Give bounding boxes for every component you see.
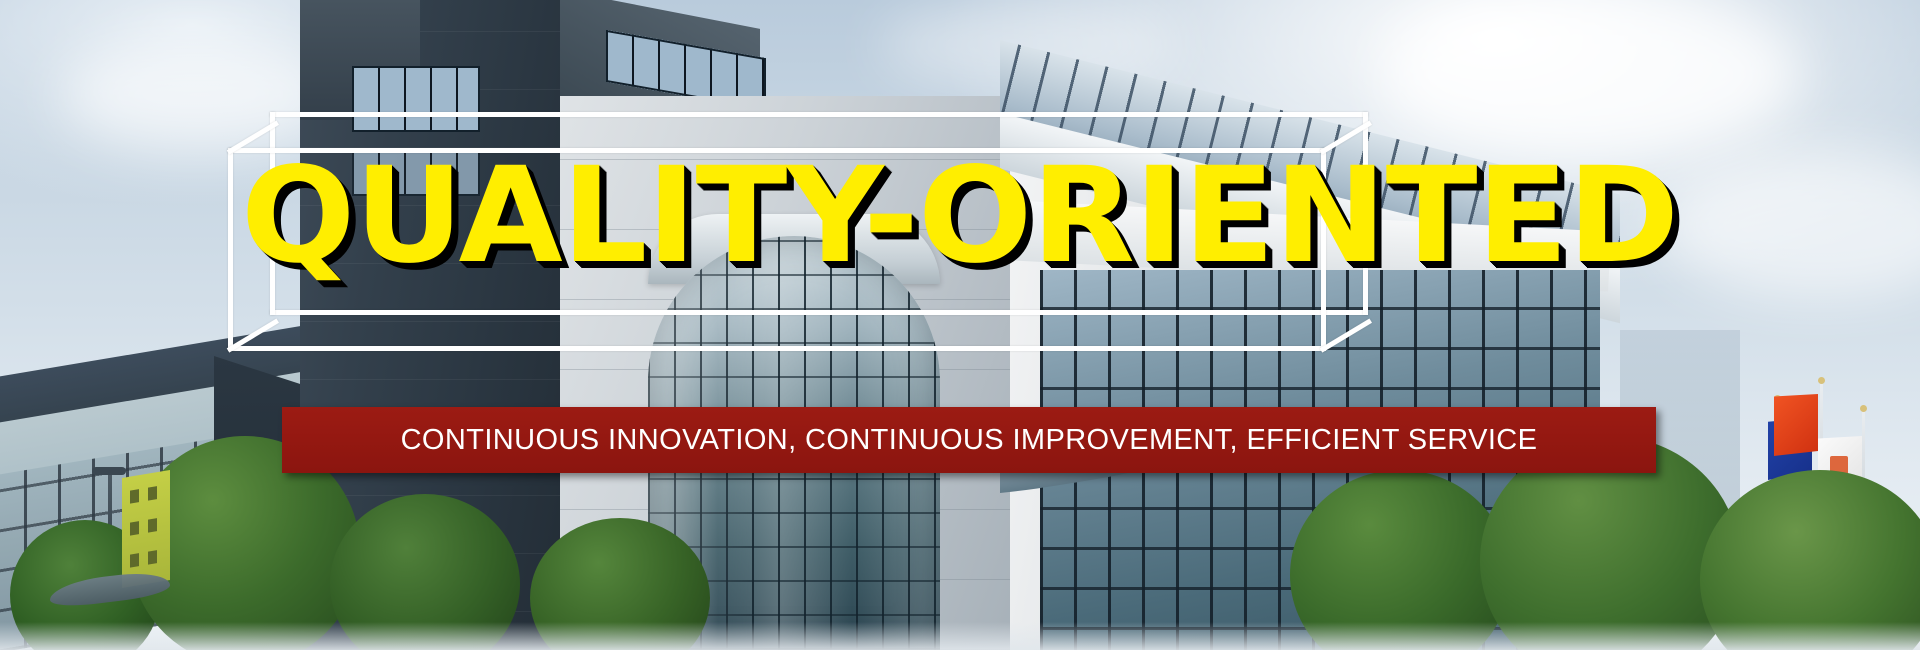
frame-diagonal: [1320, 318, 1372, 352]
subtitle-text: CONTINUOUS INNOVATION, CONTINUOUS IMPROV…: [401, 424, 1538, 457]
hero-banner: QUALITY-ORIENTED CONTINUOUS INNOVATION, …: [0, 0, 1920, 650]
green-accent-panel: [122, 470, 170, 588]
frame-line: [228, 346, 1326, 351]
frame-line: [270, 310, 1368, 315]
frame-line: [228, 148, 1326, 153]
red-flag: [1774, 394, 1818, 456]
frame-line: [228, 148, 233, 351]
frame-line: [270, 112, 275, 315]
decorative-3d-frame: [228, 112, 1368, 392]
frame-line: [270, 112, 1368, 117]
frame-line: [1321, 148, 1326, 351]
subtitle-bar: CONTINUOUS INNOVATION, CONTINUOUS IMPROV…: [282, 407, 1656, 473]
bottom-fade: [0, 622, 1920, 650]
frame-line: [1363, 112, 1368, 315]
